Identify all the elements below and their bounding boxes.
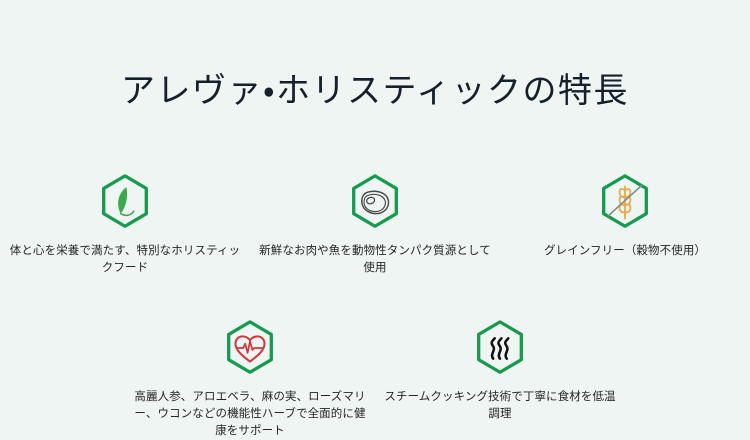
- feature-item-functional-herbs: 高麗人参、アロエベラ、麻の実、ローズマリ ー、ウコンなどの機能性ハーブで全面的に…: [125, 318, 375, 440]
- feature-row-bottom: 高麗人参、アロエベラ、麻の実、ローズマリ ー、ウコンなどの機能性ハーブで全面的に…: [0, 318, 750, 440]
- page-title: アレヴァ・ホリスティックの特長: [0, 69, 750, 113]
- no-grain-icon: [594, 172, 656, 234]
- meat-icon: [344, 172, 406, 234]
- feature-item-animal-protein: 新鮮なお肉や魚を動物性タンパク質源として 使用: [250, 172, 500, 277]
- steam-icon: [469, 318, 531, 380]
- feature-caption: 新鮮なお肉や魚を動物性タンパク質源として 使用: [256, 243, 494, 277]
- feature-row-top: 体と心を栄養で満たす、特別なホリスティッ クフード 新鮮なお肉や魚を動物性タンパ…: [0, 172, 750, 277]
- feature-caption: 高麗人参、アロエベラ、麻の実、ローズマリ ー、ウコンなどの機能性ハーブで全面的に…: [131, 389, 369, 440]
- heartbeat-icon: [219, 318, 281, 380]
- feature-item-grain-free: グレインフリー（穀物不使用）: [500, 172, 750, 260]
- feature-caption: 体と心を栄養で満たす、特別なホリスティッ クフード: [6, 243, 244, 277]
- feature-item-holistic-food: 体と心を栄養で満たす、特別なホリスティッ クフード: [0, 172, 250, 277]
- feature-caption: グレインフリー（穀物不使用）: [506, 243, 744, 260]
- feature-item-steam-cooking: スチームクッキング技術で丁寧に食材を低温 調理: [375, 318, 625, 423]
- feature-caption: スチームクッキング技術で丁寧に食材を低温 調理: [381, 389, 619, 423]
- leaf-icon: [94, 172, 156, 234]
- features-section: アレヴァ・ホリスティックの特長 体と心を栄養で満たす、特別なホリスティッ クフー…: [0, 0, 750, 437]
